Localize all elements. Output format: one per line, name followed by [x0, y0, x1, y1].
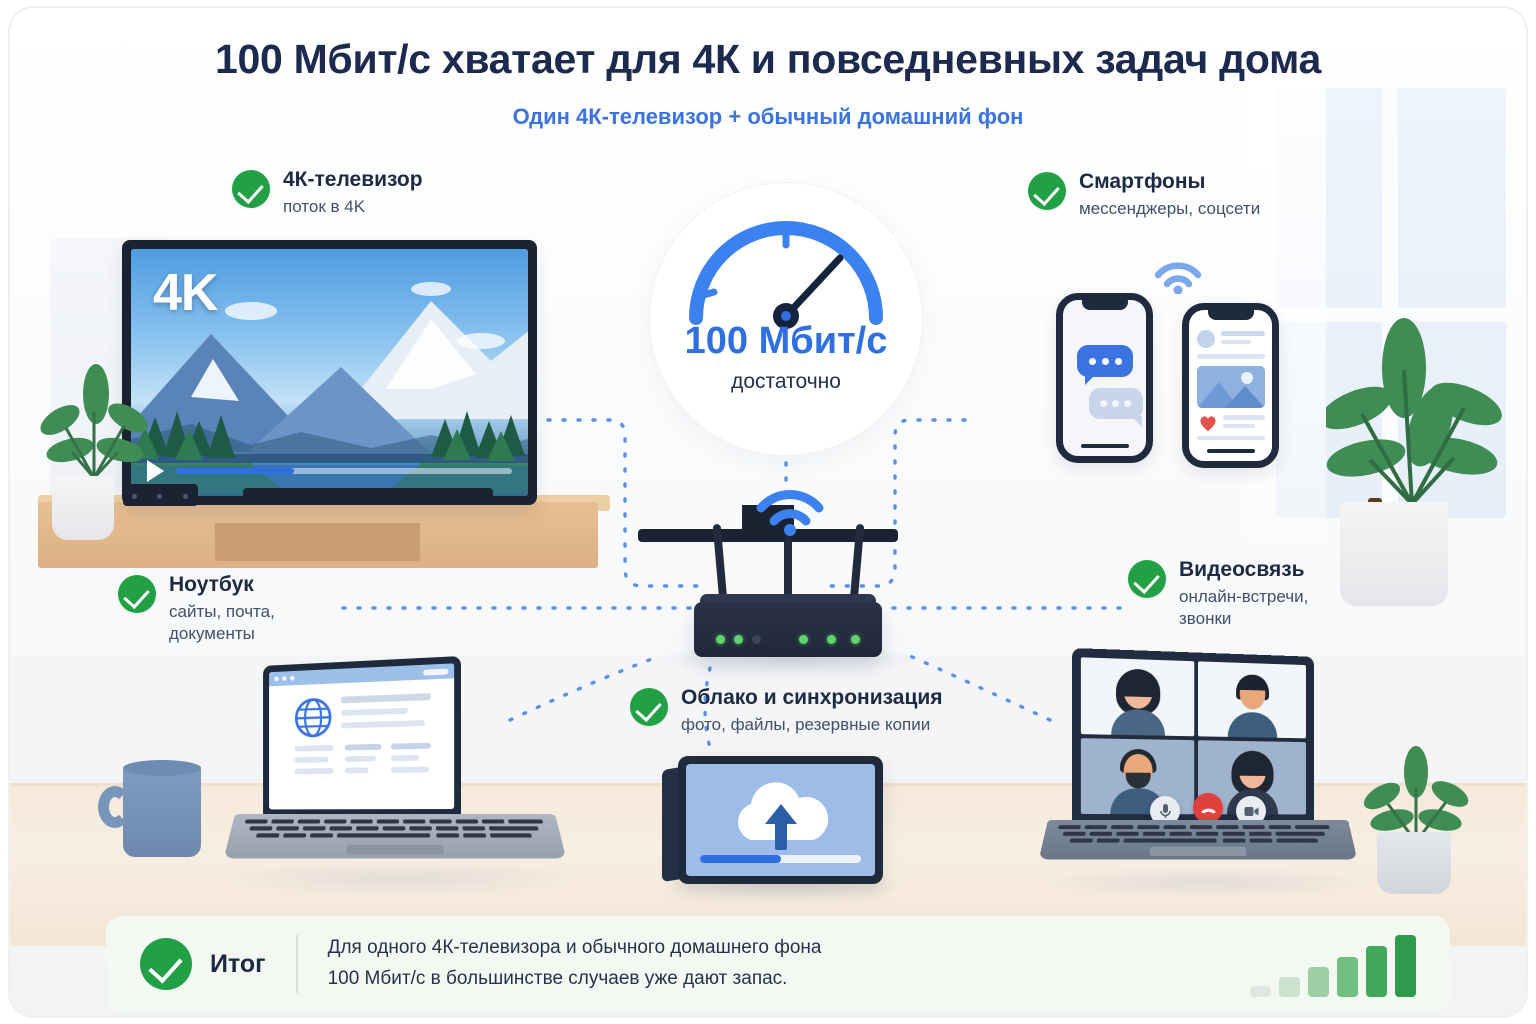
- chat-bubble-outgoing: [1089, 388, 1143, 419]
- label-subtitle: фото, файлы, резервные копии: [681, 714, 943, 736]
- label-laptop: Ноутбук сайты, почта, документы: [118, 573, 275, 646]
- video-laptop-shadow: [1040, 866, 1370, 898]
- mug-rim: [123, 760, 201, 776]
- page-title: 100 Мбит/с хватает для 4К и повседневных…: [10, 36, 1526, 83]
- phone-home-indicator: [1081, 444, 1129, 448]
- chat-bubble-incoming: [1077, 345, 1133, 377]
- tablet-cloud-sync: [678, 756, 883, 884]
- keyboard[interactable]: [240, 819, 550, 843]
- router: [694, 602, 882, 657]
- label-subtitle: сайты, почта, документы: [169, 601, 275, 646]
- end-call-button[interactable]: [1193, 793, 1223, 823]
- label-title: Видеосвязь: [1179, 558, 1308, 583]
- video-grid: [1081, 657, 1306, 814]
- label-video-call: Видеосвязь онлайн-встречи, звонки: [1128, 558, 1308, 631]
- gauge-note: достаточно: [650, 370, 922, 394]
- keyboard[interactable]: [1054, 825, 1342, 848]
- label-title: Ноутбук: [169, 573, 275, 598]
- camera-icon: [1244, 806, 1259, 817]
- label-title: Облако и синхронизация: [681, 686, 943, 711]
- globe-icon: [294, 697, 331, 738]
- trackpad[interactable]: [1149, 847, 1246, 856]
- check-icon: [1028, 172, 1066, 210]
- check-icon: [1128, 560, 1166, 598]
- plant-pot: [52, 476, 114, 540]
- window-dot[interactable]: [282, 676, 286, 681]
- upload-progress-fill: [700, 855, 781, 863]
- bar: [1279, 977, 1300, 997]
- summary-divider: [296, 935, 298, 993]
- summary-line-1: Для одного 4К-телевизора и обычного дома…: [328, 933, 822, 964]
- summary-panel: Итог Для одного 4К-телевизора и обычного…: [106, 916, 1450, 1012]
- phone-messaging: [1056, 293, 1153, 463]
- cloud-upload-icon: [721, 778, 841, 852]
- tv-screen: 4K: [131, 249, 528, 496]
- tv-player-controls[interactable]: [131, 460, 528, 482]
- phone-notch: [1208, 309, 1254, 320]
- plant-pot-large: [1340, 502, 1448, 606]
- soundbar: [243, 488, 493, 504]
- video-tile[interactable]: [1081, 657, 1194, 735]
- tv-progress-track[interactable]: [176, 468, 512, 474]
- label-tv: 4К-телевизор поток в 4K: [232, 168, 423, 218]
- microphone-icon: [1159, 803, 1172, 819]
- plant-pot-desk: [1377, 832, 1451, 894]
- television: 4K: [122, 240, 537, 505]
- browser-titlebar: [269, 663, 454, 686]
- laptop-base: [224, 814, 567, 858]
- window-dot[interactable]: [274, 676, 278, 681]
- laptop-shadow: [220, 860, 580, 896]
- window-dot[interactable]: [290, 676, 294, 681]
- upload-progress-track: [700, 855, 861, 863]
- trackpad[interactable]: [346, 845, 444, 855]
- label-title: 4К-телевизор: [283, 168, 423, 193]
- heart-icon[interactable]: [1198, 414, 1218, 432]
- label-subtitle: мессенджеры, соцсети: [1079, 198, 1260, 220]
- label-subtitle: поток в 4K: [283, 196, 423, 218]
- check-icon-summary: [140, 938, 192, 990]
- page-subtitle: Один 4К-телевизор + обычный домашний фон: [10, 104, 1526, 130]
- check-icon: [232, 170, 270, 208]
- coffee-mug: [123, 765, 201, 857]
- label-title: Смартфоны: [1079, 170, 1260, 195]
- tv-stand-shelf: [215, 523, 420, 561]
- phone-notch: [1082, 299, 1128, 310]
- browser-window: [269, 663, 454, 809]
- bandwidth-bar-chart: [1250, 931, 1416, 997]
- phone-home-indicator: [1207, 449, 1255, 453]
- label-smartphones: Смартфоны мессенджеры, соцсети: [1028, 170, 1260, 220]
- wifi-icon-router: [751, 480, 829, 536]
- bar: [1250, 986, 1271, 997]
- check-icon: [118, 575, 156, 613]
- tablet-screen: [686, 764, 875, 876]
- gauge-dial: [674, 200, 898, 336]
- bar: [1366, 946, 1387, 997]
- phone-social-feed: [1182, 303, 1279, 468]
- label-subtitle: онлайн-встречи, звонки: [1179, 586, 1308, 631]
- laptop-browser: [263, 656, 461, 816]
- bar: [1308, 967, 1329, 997]
- label-cloud-sync: Облако и синхронизация фото, файлы, резе…: [630, 686, 943, 736]
- tv-4k-badge: 4K: [153, 263, 217, 323]
- summary-word: Итог: [210, 950, 266, 979]
- bar: [1395, 935, 1416, 997]
- card-frame: 100 Мбит/с хватает для 4К и повседневных…: [8, 6, 1528, 1018]
- gauge-value: 100 Мбит/с: [650, 320, 922, 363]
- end-call-icon: [1200, 803, 1217, 814]
- summary-line-2: 100 Мбит/с в большинстве случаев уже даю…: [328, 964, 822, 995]
- check-icon: [630, 688, 668, 726]
- wifi-icon-phones: [1151, 256, 1205, 294]
- feed-image: [1197, 366, 1265, 408]
- bar: [1337, 957, 1358, 997]
- video-laptop-base: [1039, 820, 1358, 860]
- summary-text: Для одного 4К-телевизора и обычного дома…: [328, 933, 822, 995]
- laptop-video-call: [1072, 648, 1314, 823]
- tv-bezel: 4K: [122, 240, 537, 505]
- video-tile[interactable]: [1198, 661, 1306, 738]
- tv-progress-fill: [176, 468, 294, 474]
- infographic-canvas: 100 Мбит/с хватает для 4К и повседневных…: [0, 0, 1536, 1024]
